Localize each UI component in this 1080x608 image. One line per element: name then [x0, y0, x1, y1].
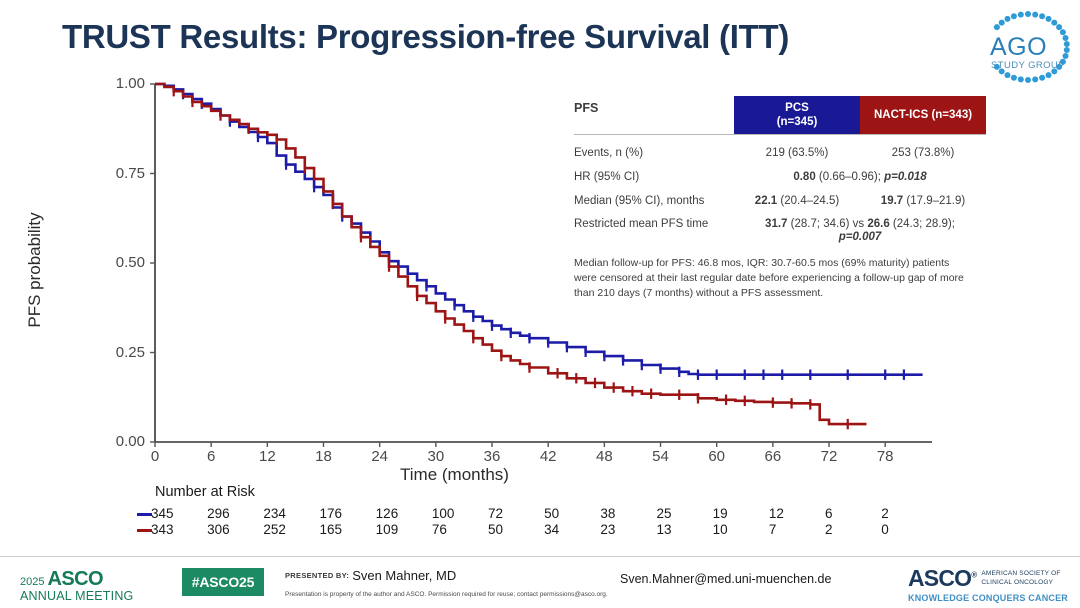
presenter-email: Sven.Mahner@med.uni-muenchen.de — [620, 572, 831, 586]
asco-brand-trademark-icon: ® — [971, 570, 976, 579]
stats-header-divider — [574, 134, 986, 135]
stats-row-events-pcs: 219 (63.5%) — [734, 147, 860, 159]
number-at-risk-value: 34 — [544, 522, 578, 537]
stats-row-hr-ci: (0.66–0.96); — [816, 171, 884, 183]
stats-row-median: Median (95% CI), months 22.1 (20.4–24.5)… — [574, 195, 986, 207]
asco-annual-meeting-logo: 2025 ASCO ANNUAL MEETING — [20, 568, 170, 603]
stats-header-nact: NACT-ICS (n=343) — [860, 96, 986, 134]
number-at-risk-value: 109 — [376, 522, 410, 537]
stats-header-pcs: PCS (n=345) — [734, 96, 860, 134]
stats-row-restricted-p: p=0.007 — [574, 231, 986, 243]
slide-footer: 2025 ASCO ANNUAL MEETING #ASCO25 PRESENT… — [0, 557, 1080, 608]
presenter-name: Sven Mahner, MD — [352, 568, 456, 583]
asco-brand-acronym-text: ASCO — [908, 565, 971, 591]
stats-row-median-pcs-ci: (20.4–24.5) — [777, 195, 839, 207]
x-tick-label: 0 — [140, 448, 170, 465]
x-tick-label: 66 — [758, 448, 788, 465]
stats-footnote: Median follow-up for PFS: 46.8 mos, IQR:… — [574, 256, 969, 302]
x-tick-label: 30 — [421, 448, 451, 465]
number-at-risk-value: 10 — [713, 522, 747, 537]
asco-brand-logo: ASCO® AMERICAN SOCIETY OF CLINICAL ONCOL… — [908, 567, 1068, 603]
y-axis-title: PFS probability — [25, 130, 45, 410]
x-tick-label: 78 — [870, 448, 900, 465]
number-at-risk-value: 38 — [600, 506, 634, 521]
stats-row-hr-p: p=0.018 — [884, 171, 927, 183]
number-at-risk-value: 13 — [657, 522, 691, 537]
number-at-risk-value: 100 — [432, 506, 466, 521]
number-at-risk-value: 72 — [488, 506, 522, 521]
y-tick-label: 0.25 — [99, 344, 145, 361]
presented-by-label: PRESENTED BY: — [285, 571, 349, 580]
asco-brand-society: AMERICAN SOCIETY OF CLINICAL ONCOLOGY — [981, 570, 1060, 588]
hashtag-badge: #ASCO25 — [182, 568, 264, 596]
stats-table-header: PFS PCS (n=345) NACT-ICS (n=343) — [574, 96, 986, 134]
y-tick-label: 0.75 — [99, 165, 145, 182]
stats-row-median-pcs-value: 22.1 — [755, 195, 777, 207]
svg-text:STUDY GROUP: STUDY GROUP — [991, 60, 1065, 71]
stats-row-median-nact: 19.7 (17.9–21.9) — [860, 195, 986, 207]
stats-header-nact-name: NACT-ICS (n=343) — [860, 108, 986, 122]
number-at-risk-row-pcs: 34529623417612610072503825191262 — [0, 506, 1000, 522]
stats-row-hr-estimate: 0.80 — [793, 171, 815, 183]
asco-meeting-year: 2025 — [20, 576, 44, 588]
number-at-risk-value: 19 — [713, 506, 747, 521]
stats-row-median-pcs: 22.1 (20.4–24.5) — [734, 195, 860, 207]
stats-row-median-label: Median (95% CI), months — [574, 195, 734, 207]
stats-row-hr-value: 0.80 (0.66–0.96); p=0.018 — [734, 171, 986, 183]
x-tick-label: 6 — [196, 448, 226, 465]
number-at-risk-value: 0 — [881, 522, 915, 537]
x-tick-label: 36 — [477, 448, 507, 465]
stats-row-restricted-value: 31.7 (28.7; 34.6) vs 26.6 (24.3; 28.9); — [734, 218, 986, 230]
page-title: TRUST Results: Progression-free Survival… — [62, 18, 982, 56]
number-at-risk-value: 126 — [376, 506, 410, 521]
stats-row-hr: HR (95% CI) 0.80 (0.66–0.96); p=0.018 — [574, 171, 986, 183]
y-tick-label: 0.00 — [99, 433, 145, 450]
stats-row-restricted-mean: Restricted mean PFS time 31.7 (28.7; 34.… — [574, 218, 986, 230]
asco-brand-society-line2: CLINICAL ONCOLOGY — [981, 579, 1060, 588]
number-at-risk-value: 23 — [600, 522, 634, 537]
x-tick-label: 24 — [365, 448, 395, 465]
x-tick-label: 42 — [533, 448, 563, 465]
stats-row-restricted-nact-value: 26.6 — [867, 218, 889, 230]
x-axis-title: Time (months) — [400, 465, 509, 485]
y-tick-label: 0.50 — [99, 254, 145, 271]
number-at-risk-value: 50 — [488, 522, 522, 537]
stats-header-pcs-name: PCS — [734, 101, 860, 115]
x-tick-label: 18 — [309, 448, 339, 465]
stats-row-hr-label: HR (95% CI) — [574, 171, 734, 183]
asco-meeting-acronym: ASCO — [48, 568, 103, 590]
stats-row-restricted-label: Restricted mean PFS time — [574, 218, 734, 230]
number-at-risk-row-nact: 343306252165109765034231310720 — [0, 522, 1000, 538]
number-at-risk-value: 7 — [769, 522, 803, 537]
number-at-risk-value: 176 — [320, 506, 354, 521]
stats-row-events-nact: 253 (73.8%) — [860, 147, 986, 159]
number-at-risk-value: 12 — [769, 506, 803, 521]
x-tick-label: 72 — [814, 448, 844, 465]
stats-row-restricted-pcs-value: 31.7 — [765, 218, 787, 230]
number-at-risk-value: 252 — [263, 522, 297, 537]
number-at-risk-value: 2 — [881, 506, 915, 521]
number-at-risk-value: 2 — [825, 522, 859, 537]
asco-meeting-sub: ANNUAL MEETING — [20, 589, 170, 603]
stats-header-label: PFS — [574, 96, 734, 134]
number-at-risk-value: 306 — [207, 522, 241, 537]
number-at-risk-value: 165 — [320, 522, 354, 537]
stats-row-events-label: Events, n (%) — [574, 147, 734, 159]
x-tick-label: 48 — [589, 448, 619, 465]
asco-brand-tagline: KNOWLEDGE CONQUERS CANCER — [908, 593, 1068, 603]
x-tick-label: 60 — [702, 448, 732, 465]
asco-brand-acronym: ASCO® — [908, 567, 976, 590]
stats-row-restricted-nact-ci: (24.3; 28.9); — [890, 218, 955, 230]
number-at-risk-value: 25 — [657, 506, 691, 521]
number-at-risk-legend-swatch — [137, 529, 152, 532]
svg-text:AGO: AGO — [990, 33, 1047, 61]
asco-meeting-line1: 2025 ASCO — [20, 568, 170, 591]
number-at-risk-value: 6 — [825, 506, 859, 521]
asco-brand-society-line1: AMERICAN SOCIETY OF — [981, 570, 1060, 579]
number-at-risk-value: 343 — [151, 522, 185, 537]
x-tick-label: 12 — [252, 448, 282, 465]
stats-row-restricted-pcs-ci: (28.7; 34.6) vs — [787, 218, 867, 230]
number-at-risk-value: 296 — [207, 506, 241, 521]
number-at-risk-value: 345 — [151, 506, 185, 521]
stats-table: PFS PCS (n=345) NACT-ICS (n=343) Events,… — [574, 96, 986, 302]
number-at-risk-legend-swatch — [137, 513, 152, 516]
stats-row-events: Events, n (%) 219 (63.5%) 253 (73.8%) — [574, 147, 986, 159]
number-at-risk-value: 76 — [432, 522, 466, 537]
y-tick-label: 1.00 — [99, 75, 145, 92]
number-at-risk-title: Number at Risk — [155, 484, 255, 500]
stats-row-median-nact-ci: (17.9–21.9) — [903, 195, 965, 207]
asco-brand-row: ASCO® AMERICAN SOCIETY OF CLINICAL ONCOL… — [908, 567, 1068, 590]
number-at-risk-value: 234 — [263, 506, 297, 521]
x-tick-label: 54 — [646, 448, 676, 465]
stats-header-pcs-n: (n=345) — [734, 115, 860, 129]
presentation-disclaimer: Presentation is property of the author a… — [285, 591, 755, 598]
number-at-risk-value: 50 — [544, 506, 578, 521]
stats-row-median-nact-value: 19.7 — [881, 195, 903, 207]
